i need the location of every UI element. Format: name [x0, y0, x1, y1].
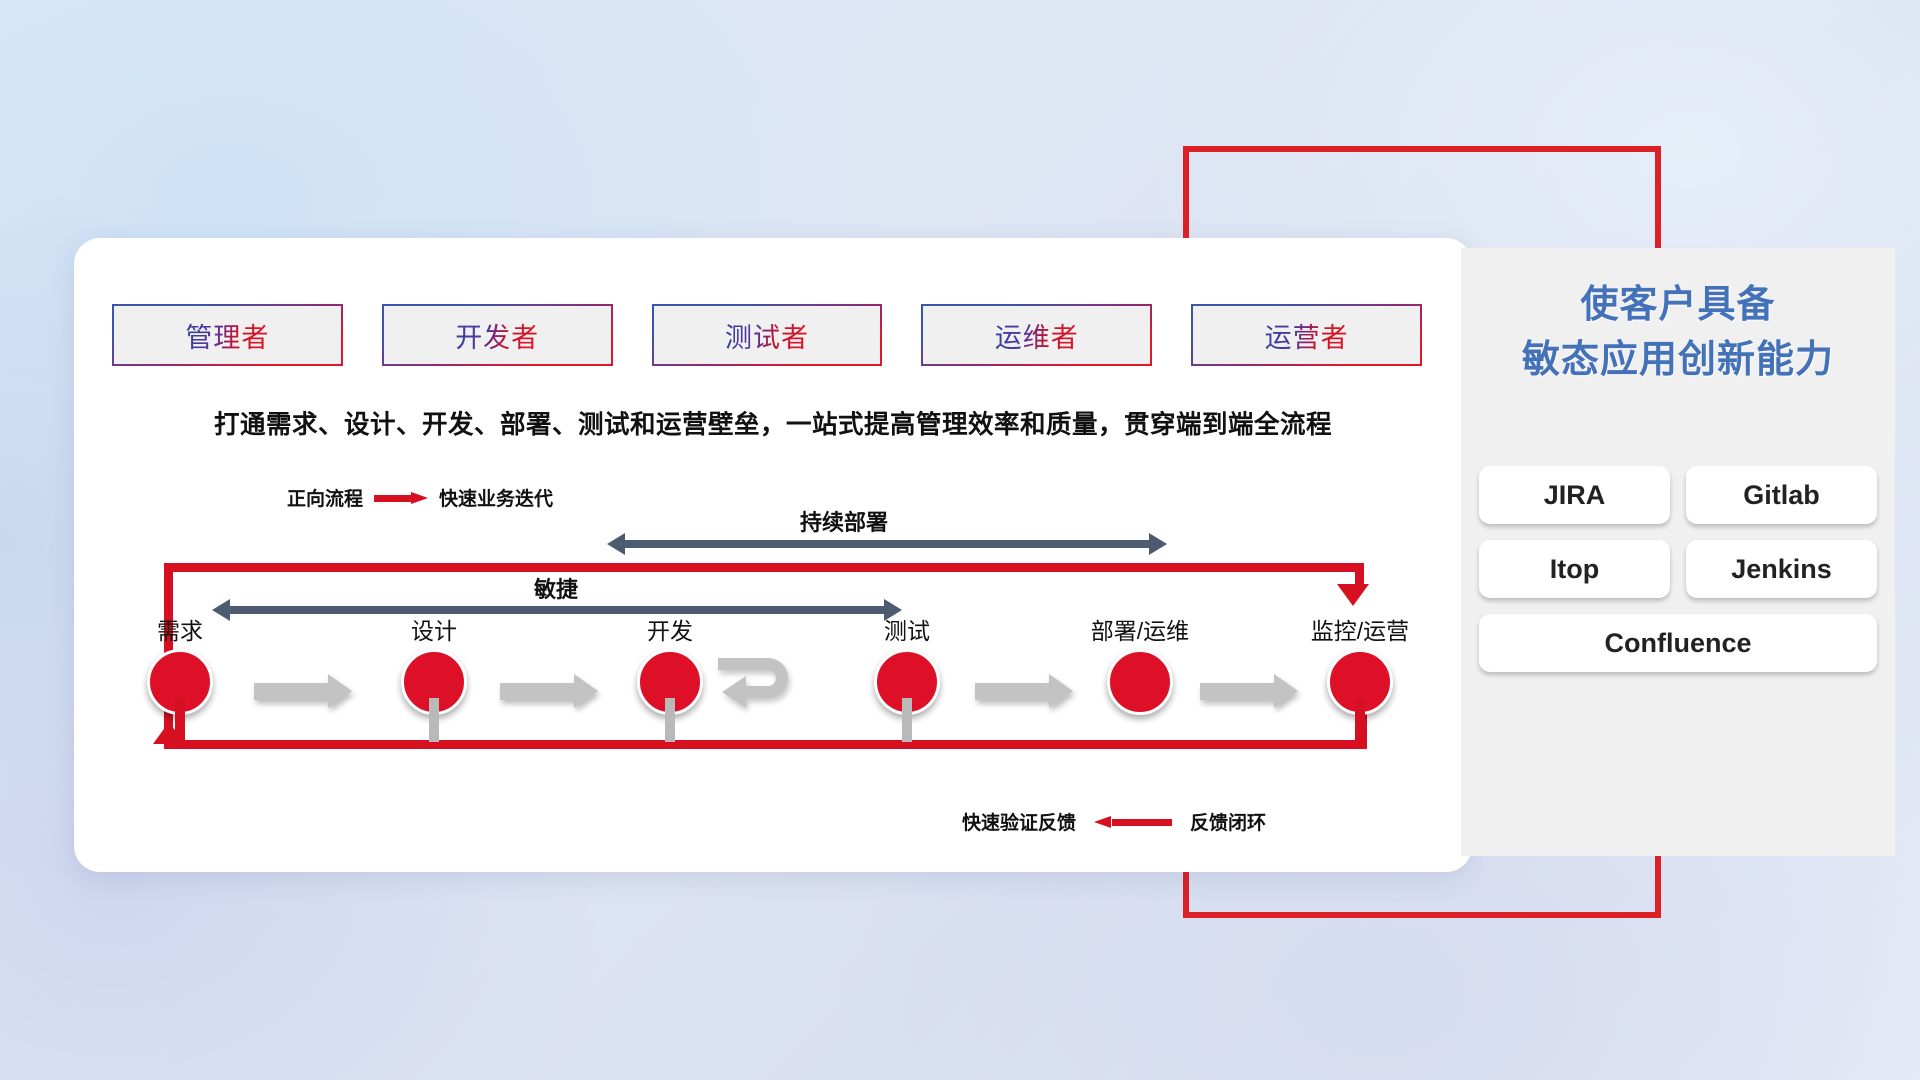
tool-tag-gitlab[interactable]: Gitlab [1686, 466, 1877, 524]
tool-tag-confluence[interactable]: Confluence [1479, 614, 1877, 672]
stage-label: 监控/运营 [1300, 620, 1420, 643]
role-label: 运营者 [1265, 316, 1349, 355]
arrow-down-red-icon [1337, 584, 1369, 606]
tool-tag-group: JIRA Gitlab Itop Jenkins Confluence [1479, 466, 1877, 672]
connector-arrow-3-icon [975, 674, 1073, 708]
connector-arrow-1-icon [254, 674, 352, 708]
legend-forward-source-label: 正向流程 [287, 484, 363, 511]
stage-stem [902, 698, 912, 742]
pipeline-stage-deploy-ops[interactable]: 部署/运维 [1080, 620, 1200, 715]
stage-stem [429, 698, 439, 742]
role-label: 开发者 [455, 316, 539, 355]
legend-feedback-source-label: 反馈闭环 [1190, 808, 1266, 835]
legend-feedback-target-label: 快速验证反馈 [962, 808, 1076, 835]
pipeline-stage-development[interactable]: 开发 [610, 620, 730, 715]
double-arrow-agile-icon [212, 599, 902, 621]
red-loop-bottom [164, 740, 1367, 749]
panel-title-line-2: 敏态应用创新能力 [1461, 333, 1895, 388]
panel-title-line-1: 使客户具备 [1461, 278, 1895, 333]
double-arrow-continuous-deployment-icon [607, 533, 1167, 555]
role-box-developer[interactable]: 开发者 [382, 304, 613, 366]
stage-stem [1355, 698, 1365, 742]
stage-label: 开发 [610, 620, 730, 643]
role-box-tester[interactable]: 测试者 [652, 304, 883, 366]
role-box-manager[interactable]: 管理者 [112, 304, 343, 366]
headline-text: 打通需求、设计、开发、部署、测试和运营壁垒，一站式提高管理效率和质量，贯穿端到端… [128, 404, 1418, 441]
value-panel: 使客户具备 敏态应用创新能力 JIRA Gitlab Itop Jenkins … [1461, 248, 1895, 856]
stage-label: 设计 [374, 620, 494, 643]
loopback-uturn-arrow-icon [716, 652, 816, 710]
legend-feedback-loop: 快速验证反馈 反馈闭环 [962, 808, 1266, 835]
panel-title: 使客户具备 敏态应用创新能力 [1461, 278, 1895, 388]
role-box-ops[interactable]: 运维者 [921, 304, 1152, 366]
tool-tag-jira[interactable]: JIRA [1479, 466, 1670, 524]
tool-tag-itop[interactable]: Itop [1479, 540, 1670, 598]
stage-label: 测试 [847, 620, 967, 643]
pipeline-stage-testing[interactable]: 测试 [847, 620, 967, 715]
arrow-left-red-icon [1094, 816, 1172, 828]
pipeline-stage-requirements[interactable]: 需求 [120, 620, 240, 715]
red-frame-top [1183, 146, 1661, 152]
role-box-operations[interactable]: 运营者 [1191, 304, 1422, 366]
role-label: 运维者 [995, 316, 1079, 355]
red-loop-top [164, 563, 1364, 572]
pipeline-stage-monitor-operations[interactable]: 监控/运营 [1300, 620, 1420, 715]
pipeline-stage-design[interactable]: 设计 [374, 620, 494, 715]
stage-stem [665, 698, 675, 742]
stage-label: 部署/运维 [1080, 620, 1200, 643]
stage-label: 需求 [120, 620, 240, 643]
tool-tag-jenkins[interactable]: Jenkins [1686, 540, 1877, 598]
role-box-group: 管理者 开发者 测试者 运维者 运营者 [112, 304, 1422, 366]
role-label: 管理者 [185, 316, 269, 355]
stage-dot-icon [1107, 649, 1173, 715]
arrow-right-red-icon [374, 492, 428, 504]
red-frame-bottom [1183, 912, 1661, 918]
role-label: 测试者 [725, 316, 809, 355]
connector-arrow-4-icon [1200, 674, 1298, 708]
legend-forward-target-label: 快速业务迭代 [439, 484, 553, 511]
connector-arrow-2-icon [500, 674, 598, 708]
stage-stem [175, 698, 185, 742]
legend-forward-flow: 正向流程 快速业务迭代 [287, 484, 553, 511]
